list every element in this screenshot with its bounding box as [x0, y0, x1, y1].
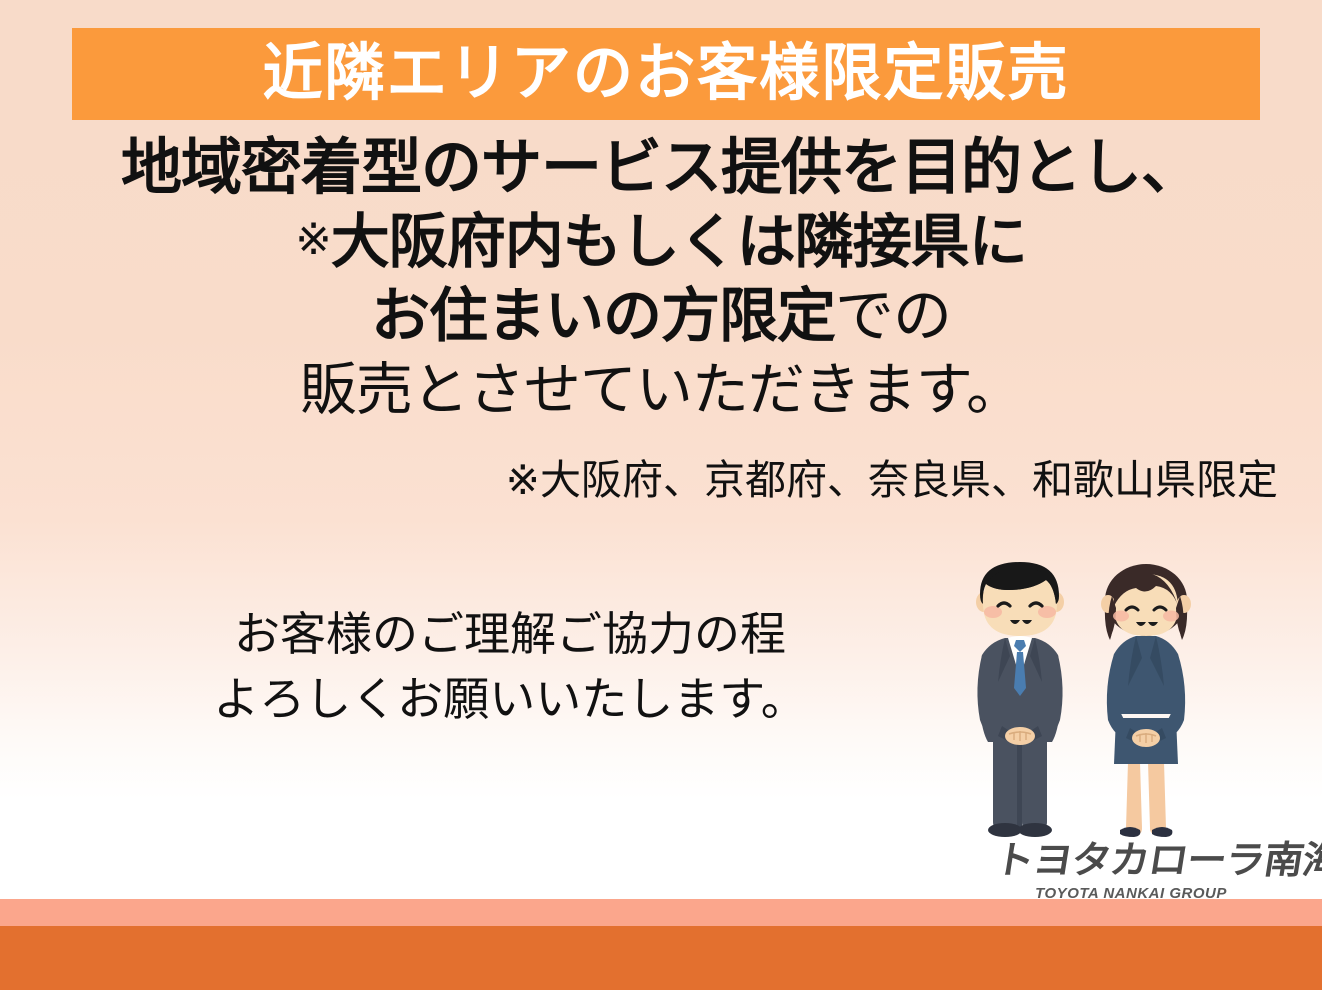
footer-dark-bar [0, 926, 1322, 990]
bowing-businessman-figure [976, 562, 1064, 837]
body-line-1: 地域密着型のサービス提供を目的とし、 [0, 132, 1322, 204]
body-line-3-bold: お住まいの方限定 [371, 283, 835, 349]
closing-line-2: よろしくお願いいたします。 [80, 667, 940, 732]
prefecture-note: ※大阪府、京都府、奈良県、和歌山県限定 [0, 446, 1322, 506]
closing-message-block: お客様のご理解ご協力の程 よろしくお願いいたします。 [80, 602, 940, 733]
body-line-2-text: 大阪府内もしくは隣接県に [331, 209, 1027, 275]
body-line-2: ※大阪府内もしくは隣接県に [0, 208, 1322, 278]
poster-canvas: 近隣エリアのお客様限定販売 地域密着型のサービス提供を目的とし、 ※大阪府内もし… [0, 0, 1322, 990]
bowing-staff-illustration [960, 560, 1230, 850]
main-text-block: 地域密着型のサービス提供を目的とし、 ※大阪府内もしくは隣接県に お住まいの方限… [0, 132, 1322, 506]
footer-light-bar [0, 899, 1322, 926]
body-line-3-thin: での [835, 283, 951, 349]
header-banner: 近隣エリアのお客様限定販売 [72, 28, 1260, 120]
reference-mark-icon: ※ [295, 215, 331, 264]
body-line-3: お住まいの方限定での [0, 282, 1322, 352]
company-logo: トヨタカローラ南海 TOYOTA NANKAI GROUP [1000, 842, 1262, 902]
bowing-businesswoman-figure [1101, 564, 1191, 837]
logo-japanese-name: トヨタカローラ南海 [992, 842, 1270, 880]
banner-title: 近隣エリアのお客様限定販売 [262, 43, 1069, 105]
body-line-4: 販売とさせていただきます。 [0, 357, 1322, 424]
closing-line-1: お客様のご理解ご協力の程 [80, 602, 940, 667]
